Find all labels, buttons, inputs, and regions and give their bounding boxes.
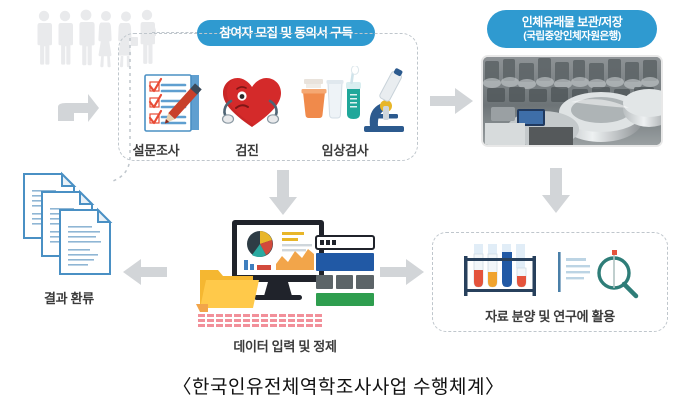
data-entry-illustration (196, 218, 376, 330)
label-result-feedback: 결과 환류 (14, 288, 124, 307)
biobank-facility-photo (481, 55, 663, 147)
diagram-canvas: 참여자 모집 및 동의서 구득 인체유래물 보관/저장 (국립중앙인체자원은행) (0, 0, 677, 410)
banner-biobank-storage: 인체유래물 보관/저장 (국립중앙인체자원은행) (487, 10, 657, 48)
person-icon (59, 11, 74, 65)
research-use-illustration (462, 242, 642, 304)
arrow-down-to-research (541, 168, 571, 214)
arrow-down-to-data-entry (268, 170, 298, 216)
arrow-right-to-biobank (430, 87, 474, 115)
report-documents-stack (12, 170, 128, 282)
person-icon (79, 10, 94, 66)
arrow-bent-up-right (52, 82, 100, 126)
banner-biobank-subtitle: (국립중앙인체자원은행) (523, 30, 621, 42)
arrow-right-to-research-use (380, 258, 426, 286)
heart-checkup-icon (218, 72, 286, 134)
label-data-entry: 데이터 입력 및 정제 (195, 336, 375, 355)
banner-biobank-title: 인체유래물 보관/저장 (522, 16, 623, 30)
figure-caption: 〈한국인유전체역학조사사업 수행체계〉 (0, 372, 677, 399)
dashed-connector-recruit-left (108, 36, 138, 186)
label-research-use: 자료 분양 및 연구에 활용 (450, 306, 650, 325)
label-checkup: 검진 (212, 140, 282, 159)
label-clinical: 임상검사 (296, 140, 394, 159)
person-icon (38, 11, 53, 65)
survey-checklist-icon (136, 68, 214, 138)
clinical-test-icon (300, 66, 408, 140)
arrow-left-to-feedback (122, 258, 168, 286)
